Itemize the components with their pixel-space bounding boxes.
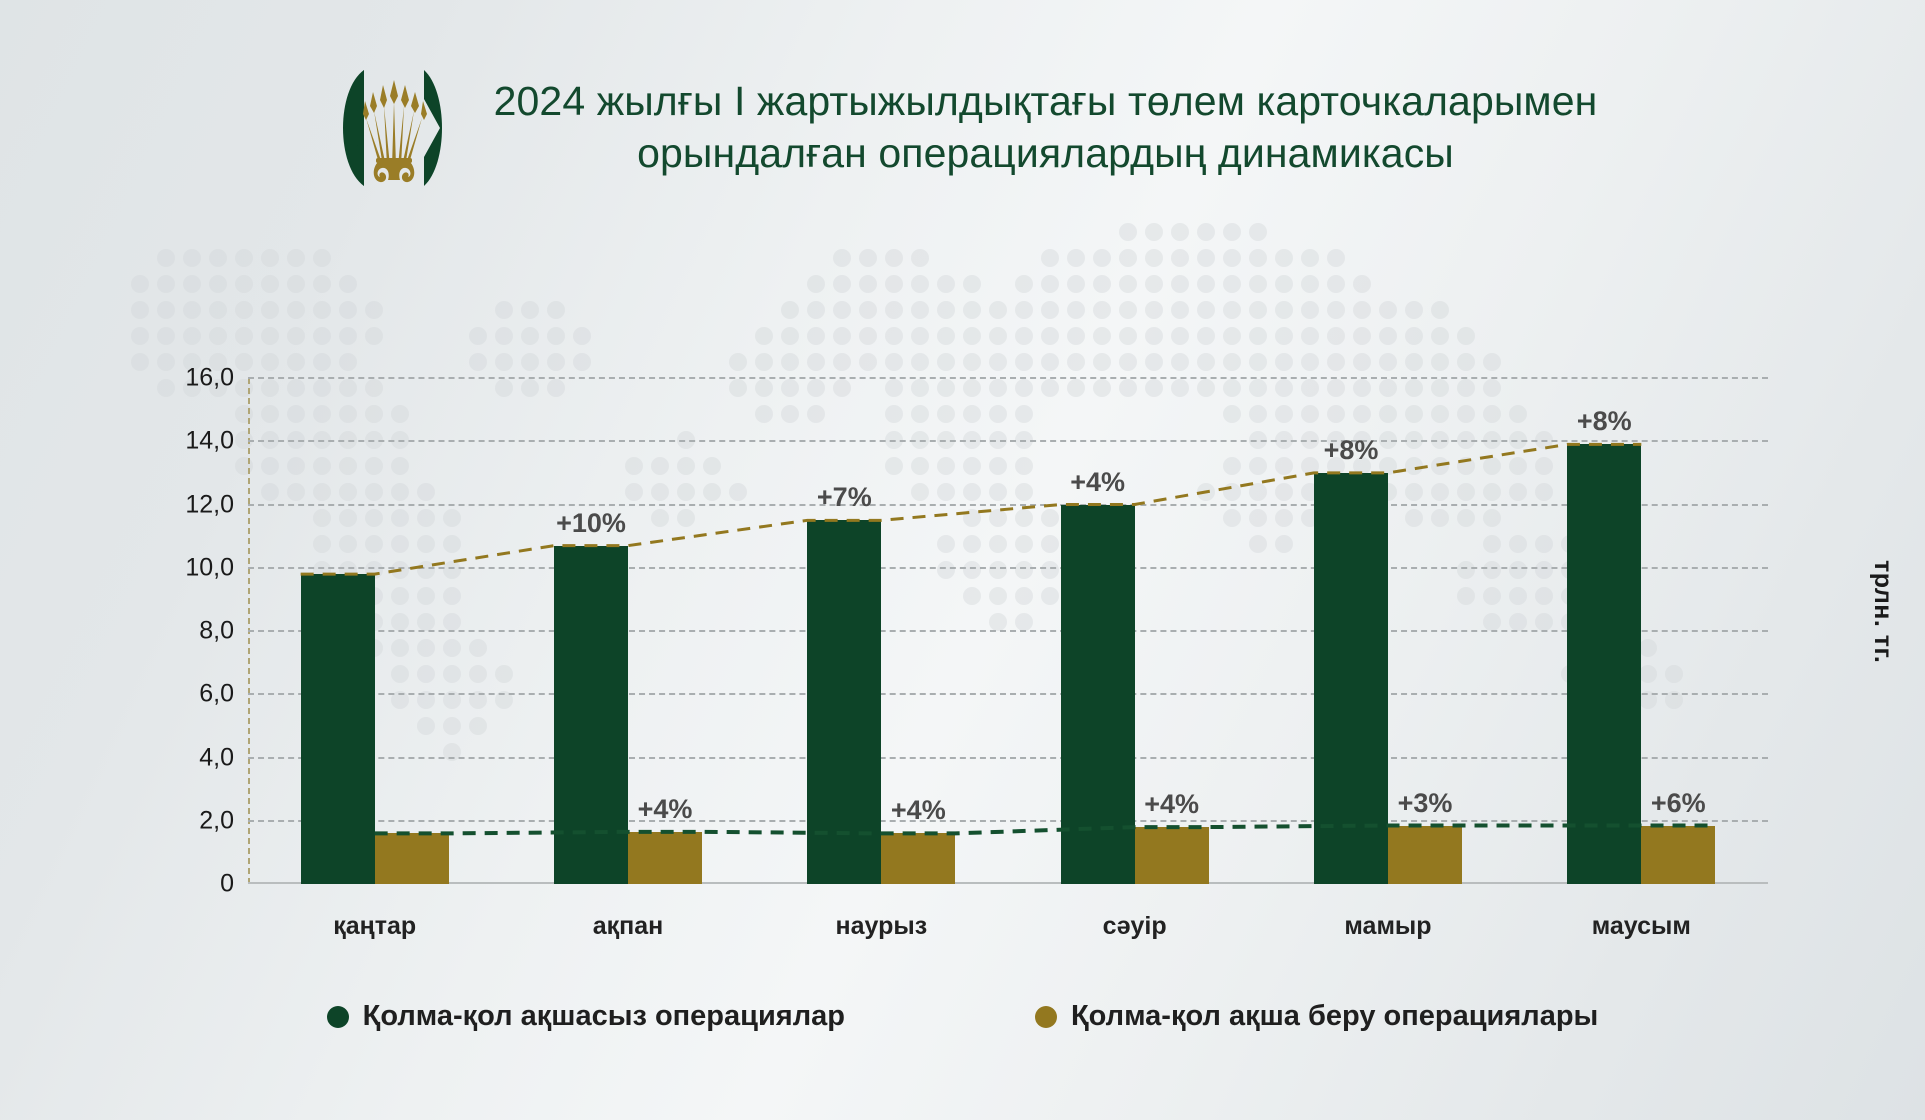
bar-cashless-ақпан[interactable]: +10%	[554, 546, 628, 884]
y-axis-tick-label: 6,0	[199, 680, 234, 709]
x-axis-tick-label: ақпан	[593, 912, 664, 941]
y-axis-tick-label: 4,0	[199, 743, 234, 772]
legend-item-cash[interactable]: Қолма-қол ақша беру операциялары	[1035, 1000, 1598, 1033]
bar-cashless-маусым[interactable]: +8%	[1567, 444, 1641, 884]
x-axis-tick-label: наурыз	[835, 912, 927, 941]
bar-cash-наурыз[interactable]: +4%	[881, 833, 955, 884]
bar-cashless-сәуір[interactable]: +4%	[1061, 505, 1135, 885]
legend-color-dot-cash	[1035, 1006, 1057, 1028]
y-axis-title: трлн. тг.	[1868, 560, 1897, 663]
national-bank-emblem	[328, 62, 460, 194]
bar-cash-ақпан[interactable]: +4%	[628, 832, 702, 884]
bar-group: +10%+4%ақпан	[501, 378, 754, 884]
x-axis-tick-label: сәуір	[1103, 912, 1167, 941]
bar-cash-сәуір[interactable]: +4%	[1135, 827, 1209, 884]
bar-groups: қаңтар+10%+4%ақпан+7%+4%наурыз+4%+4%сәуі…	[248, 378, 1768, 884]
chart-legend: Қолма-қол ақшасыз операциялар Қолма-қол …	[0, 1000, 1925, 1033]
bar-group: қаңтар	[248, 378, 501, 884]
y-axis-tick-label: 12,0	[185, 490, 234, 519]
bar-cash-маусым[interactable]: +6%	[1641, 826, 1715, 885]
growth-label-cashless-наурыз: +7%	[817, 482, 872, 513]
title-line-1: 2024 жылғы I жартыжылдықтағы төлем карто…	[494, 76, 1598, 128]
x-axis-tick-label: мамыр	[1344, 912, 1431, 941]
bar-group: +4%+4%сәуір	[1008, 378, 1261, 884]
growth-label-cash-мамыр: +3%	[1398, 788, 1453, 819]
legend-label-cashless: Қолма-қол ақшасыз операциялар	[363, 1000, 845, 1033]
chart-header: 2024 жылғы I жартыжылдықтағы төлем карто…	[0, 58, 1925, 198]
growth-label-cash-маусым: +6%	[1651, 788, 1706, 819]
bar-group: +8%+3%мамыр	[1261, 378, 1514, 884]
y-axis-tick-label: 2,0	[199, 806, 234, 835]
legend-label-cash: Қолма-қол ақша беру операциялары	[1071, 1000, 1598, 1033]
y-axis-tick-label: 16,0	[185, 364, 234, 393]
growth-label-cash-наурыз: +4%	[891, 795, 946, 826]
bar-group: +8%+6%маусым	[1515, 378, 1768, 884]
x-axis-tick-label: маусым	[1592, 912, 1691, 941]
bar-group: +7%+4%наурыз	[755, 378, 1008, 884]
legend-color-dot-cashless	[327, 1006, 349, 1028]
growth-label-cashless-ақпан: +10%	[556, 508, 626, 539]
y-axis-tick-label: 0	[220, 870, 234, 899]
bar-cashless-қаңтар[interactable]	[301, 574, 375, 884]
title-line-2: орындалған операциялардың динамикасы	[494, 128, 1598, 180]
bar-chart-plot-area: 16,014,012,010,08,06,04,02,00 қаңтар+10%…	[248, 378, 1768, 884]
page-title: 2024 жылғы I жартыжылдықтағы төлем карто…	[494, 76, 1598, 179]
growth-label-cashless-сәуір: +4%	[1070, 467, 1125, 498]
bar-cashless-мамыр[interactable]: +8%	[1314, 473, 1388, 884]
growth-label-cashless-мамыр: +8%	[1324, 435, 1379, 466]
x-axis-tick-label: қаңтар	[333, 912, 416, 941]
y-axis-tick-label: 8,0	[199, 617, 234, 646]
growth-label-cashless-маусым: +8%	[1577, 406, 1632, 437]
y-axis-tick-label: 10,0	[185, 553, 234, 582]
bar-cash-мамыр[interactable]: +3%	[1388, 826, 1462, 885]
bar-cashless-наурыз[interactable]: +7%	[807, 520, 881, 884]
y-axis-tick-label: 14,0	[185, 427, 234, 456]
bar-cash-қаңтар[interactable]	[375, 833, 449, 884]
growth-label-cash-ақпан: +4%	[638, 794, 693, 825]
legend-item-cashless[interactable]: Қолма-қол ақшасыз операциялар	[327, 1000, 845, 1033]
growth-label-cash-сәуір: +4%	[1144, 789, 1199, 820]
